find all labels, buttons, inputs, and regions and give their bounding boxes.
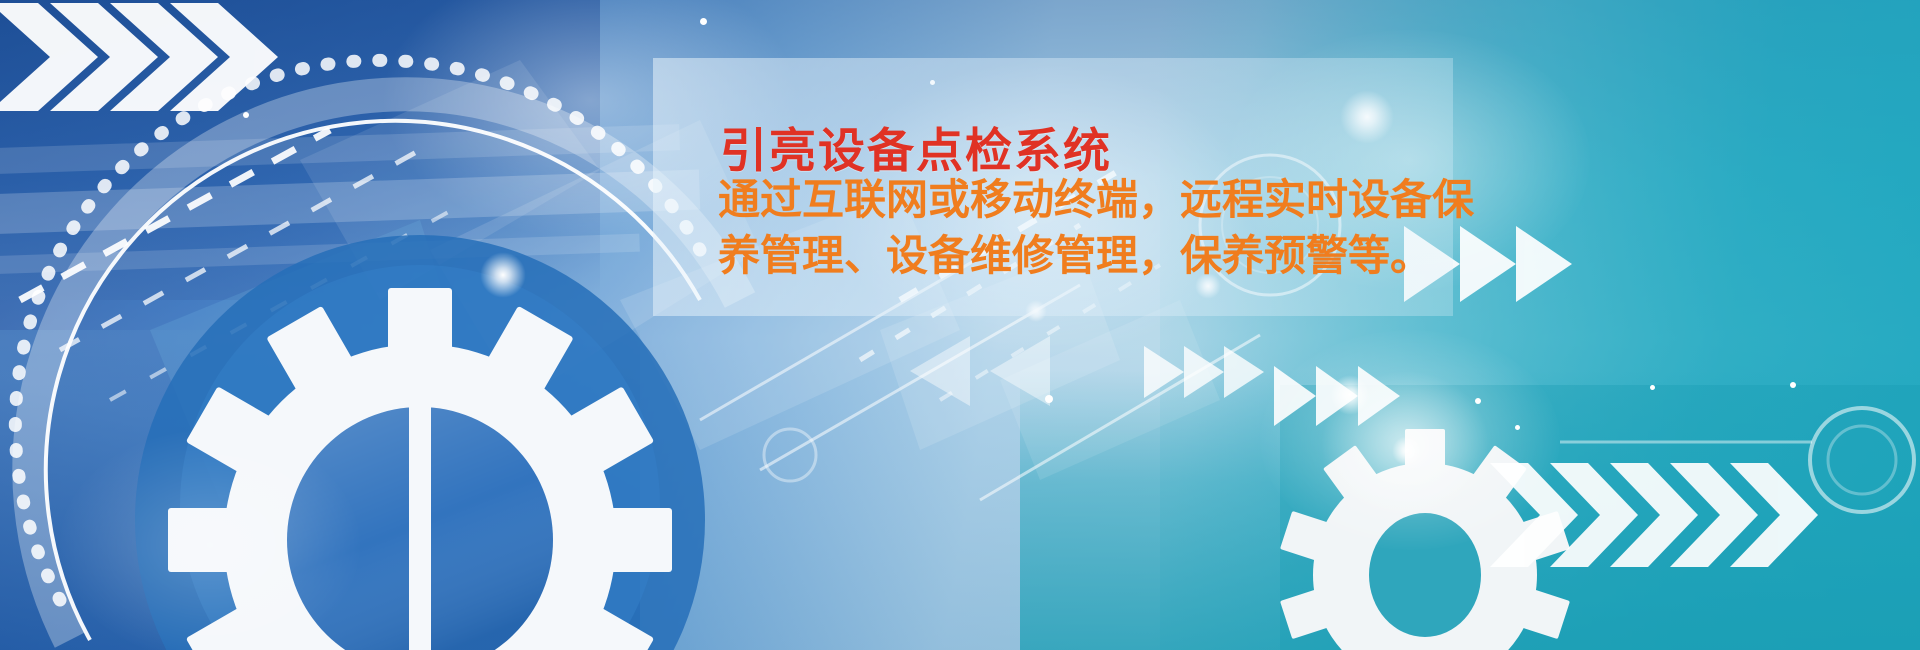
- banner-hero: 引亮设备点检系统 通过互联网或移动终端，远程实时设备保 养管理、设备维修管理，保…: [0, 0, 1920, 650]
- sparkle-dot: [700, 18, 707, 25]
- sparkle-dot: [243, 112, 249, 118]
- chevron-group-top-left: [0, 0, 400, 195]
- triangle-group-left-center: [900, 330, 1140, 440]
- subtitle-line-2: 养管理、设备维修管理，保养预警等。: [718, 228, 1458, 284]
- sparkle-dot: [1515, 425, 1520, 430]
- triangle-right-icon: [1184, 346, 1224, 398]
- triangle-right-icon: [1460, 226, 1516, 302]
- sparkle: [1392, 436, 1422, 466]
- chevron-group-right: [1480, 455, 1920, 650]
- page-title: 引亮设备点检系统: [720, 127, 1112, 174]
- sparkle-dot: [1790, 382, 1796, 388]
- triangle-left-icon: [910, 336, 970, 406]
- triangle-right-icon: [1516, 226, 1572, 302]
- triangle-right-icon: [1274, 366, 1316, 426]
- page-subtitle: 通过互联网或移动终端，远程实时设备保 养管理、设备维修管理，保养预警等。: [718, 172, 1458, 284]
- sparkle: [1330, 375, 1370, 415]
- triangle-right-icon: [1224, 346, 1264, 398]
- triangle-group-bottom-left: [1270, 360, 1570, 480]
- sparkle-dot: [1045, 395, 1053, 403]
- sparkle-dot: [1475, 398, 1481, 404]
- sparkle: [480, 252, 526, 298]
- subtitle-line-1: 通过互联网或移动终端，远程实时设备保: [718, 172, 1458, 228]
- sparkle-dot: [1650, 385, 1655, 390]
- triangle-right-icon: [1144, 346, 1184, 398]
- triangle-left-icon: [990, 336, 1050, 406]
